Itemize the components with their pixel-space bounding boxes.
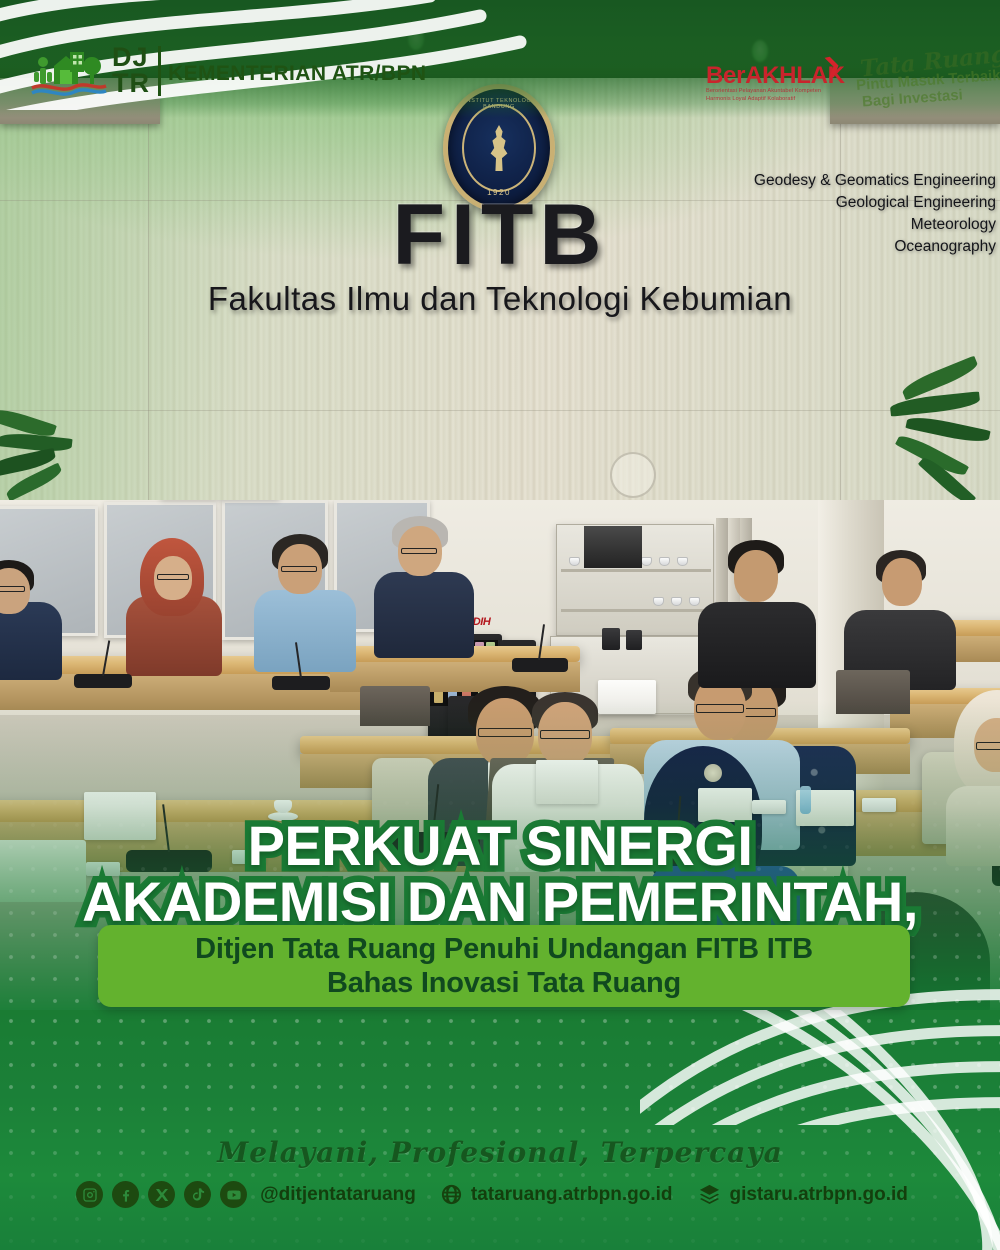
subtitle-line1: Ditjen Tata Ruang Penuhi Undangan FITB I… (195, 932, 813, 966)
facebook-icon[interactable] (112, 1181, 139, 1208)
gistaru-link[interactable]: gistaru.atrbpn.go.id (697, 1182, 907, 1207)
footer-links: @ditjentataruang tataruang.atrbpn.go.id … (0, 1181, 1000, 1208)
open-laptop (836, 670, 910, 714)
microphone-base (512, 658, 568, 672)
tissue-box (536, 760, 598, 804)
department-list: Geodesy & Geomatics Engineering Geologic… (754, 170, 996, 258)
instagram-icon[interactable] (76, 1181, 103, 1208)
djtr-logo-icon (30, 48, 108, 98)
ministry-name: KEMENTERIAN ATR/BPN (168, 62, 426, 86)
fitb-sign-subtitle: Fakultas Ilmu dan Teknologi Kebumian (0, 280, 1000, 318)
headline-line2: AKADEMISI DAN PEMERINTAH, (0, 874, 1000, 930)
subtitle-box: Ditjen Tata Ruang Penuhi Undangan FITB I… (98, 925, 910, 1007)
seal-figure (484, 125, 514, 171)
wall-seam (0, 410, 1000, 411)
headline: PERKUAT SINERGI AKADEMISI DAN PEMERINTAH… (0, 818, 1000, 930)
water-bottle (800, 786, 811, 814)
x-twitter-icon[interactable] (148, 1181, 175, 1208)
attendee (128, 530, 220, 670)
layers-icon (697, 1182, 722, 1207)
department-item: Geodesy & Geomatics Engineering (754, 170, 996, 192)
gistaru-url: gistaru.atrbpn.go.id (729, 1184, 907, 1206)
name-card (752, 800, 786, 814)
website-link[interactable]: tataruang.atrbpn.go.id (439, 1182, 673, 1207)
attendee (258, 526, 352, 666)
department-item: Geological Engineering (754, 192, 996, 214)
microphone-base (272, 676, 330, 690)
headline-line1: PERKUAT SINERGI (248, 814, 753, 877)
attendee (702, 536, 812, 666)
wall-clock (610, 452, 656, 498)
thermos (626, 630, 642, 650)
tiktok-icon[interactable] (184, 1181, 211, 1208)
berakhlak-values-line2: Harmonis Loyal Adaptif Kolaboratif (706, 96, 856, 104)
djtr-wordmark: DJ TR (112, 44, 150, 96)
attendee (848, 540, 958, 670)
brooch-icon (704, 764, 722, 782)
youtube-icon[interactable] (220, 1181, 247, 1208)
tagline: Melayani, Profesional, Terpercaya (0, 1136, 1000, 1169)
subtitle-line2: Bahas Inovasi Tata Ruang (327, 966, 681, 1000)
djtr-line1: DJ (112, 44, 150, 70)
poster-root: INSTITUT TEKNOLOGI BANDUNG 1920 FITB Fak… (0, 0, 1000, 1250)
globe-icon (439, 1182, 464, 1207)
tablet (360, 686, 430, 726)
berakhlak-values-line1: Berorientasi Pelayanan Akuntabel Kompete… (706, 88, 856, 96)
djtr-line2: TR (112, 70, 150, 96)
social-handle[interactable]: @ditjentataruang (260, 1184, 416, 1206)
department-item: Oceanography (754, 236, 996, 258)
tissue-box (598, 680, 656, 714)
wall-recess (584, 526, 642, 568)
department-item: Meteorology (754, 214, 996, 236)
attendee (378, 510, 470, 650)
attendee (0, 544, 64, 664)
footer-panel (0, 1010, 1000, 1250)
berakhlak-values: Berorientasi Pelayanan Akuntabel Kompete… (706, 88, 856, 103)
name-card (862, 798, 896, 812)
website-url: tataruang.atrbpn.go.id (471, 1184, 673, 1206)
brand-divider (158, 46, 161, 96)
thermos (602, 628, 620, 650)
dot-pattern (0, 1010, 1000, 1250)
